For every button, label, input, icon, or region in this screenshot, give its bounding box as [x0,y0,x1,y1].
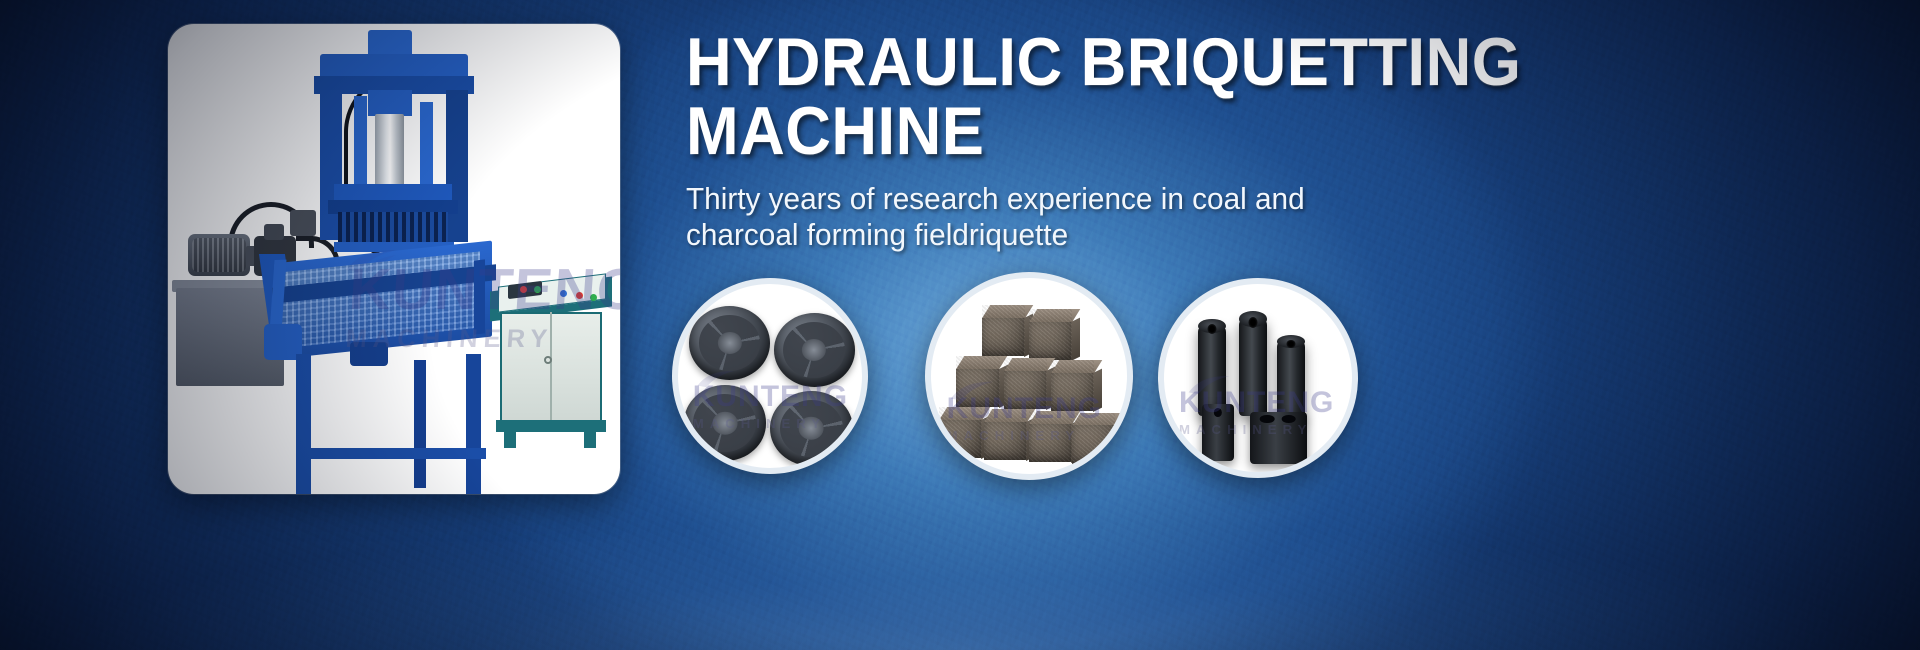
ram-mount [368,90,412,116]
cube-briquette [1004,358,1047,409]
promotional-banner: KUNTENG MACHINERY HYDRAULIC BRIQUETTING … [0,0,1920,650]
cabinet-door-seam [550,312,552,422]
indicator-led [576,292,583,299]
banner-title: HYDRAULIC BRIQUETTING MACHINE [686,28,1783,167]
press-brace-left [354,96,367,192]
machine-leg [466,354,481,494]
motor-cooling-fins [192,238,246,272]
indicator-led [560,290,567,297]
coal-briquette [684,385,767,460]
control-valve [290,210,316,236]
machine-photo: KUNTENG MACHINERY [168,24,620,494]
conveyor-guard-right [474,259,485,334]
charcoal-stick [1250,412,1306,465]
press-column-right [446,90,468,242]
cabinet-base [496,420,606,432]
charcoal-stick [1202,404,1234,460]
cube-briquette [956,356,999,407]
cube-briquette [939,407,982,458]
banner-subtitle: Thirty years of research experience in c… [686,181,1819,253]
press-brace-right [420,102,433,190]
cabinet-foot [584,432,596,448]
cube-briquette [1029,411,1072,462]
indicator-led [520,286,527,293]
cube-briquette [1072,413,1115,464]
mold-box [338,212,448,246]
product-circle-charcoal-sticks: KUNTENG MACHINERY [1158,278,1358,478]
machine-leg-crossbar [296,448,486,459]
coal-briquette [689,306,770,380]
product-circle-coal-briquettes: KUNTENG MACHINERY [672,278,868,474]
cube-briquette [1051,360,1094,411]
product-circle-cube-briquettes: KUNTENG MACHINERY [925,272,1133,480]
pump-inlet [264,224,284,240]
machine-leg [296,354,311,494]
indicator-led [590,294,597,301]
charcoal-stick [1239,318,1267,416]
conveyor-gearmotor [350,342,388,366]
cube-briquette [982,305,1025,356]
cabinet-foot [504,432,516,448]
charcoal-stick [1198,325,1226,415]
machine-photo-card: KUNTENG MACHINERY [168,24,620,494]
charcoal-stick [1277,340,1305,419]
banner-copy: HYDRAULIC BRIQUETTING MACHINE Thirty yea… [686,28,1866,253]
subtitle-line-2: charcoal forming fieldriquette [686,217,1819,253]
cube-briquette [1029,309,1072,360]
subtitle-line-1: Thirty years of research experience in c… [686,181,1819,217]
cube-briquette [984,409,1027,460]
indicator-led [534,286,541,293]
hydraulic-ram-cylinder [375,114,404,188]
coal-briquette [770,391,853,466]
cabinet-lock-icon [544,356,552,364]
machine-leg [414,360,426,488]
title-line-2: MACHINE [686,97,1783,166]
coal-briquette [774,313,855,387]
title-line-1: HYDRAULIC BRIQUETTING [686,28,1783,97]
